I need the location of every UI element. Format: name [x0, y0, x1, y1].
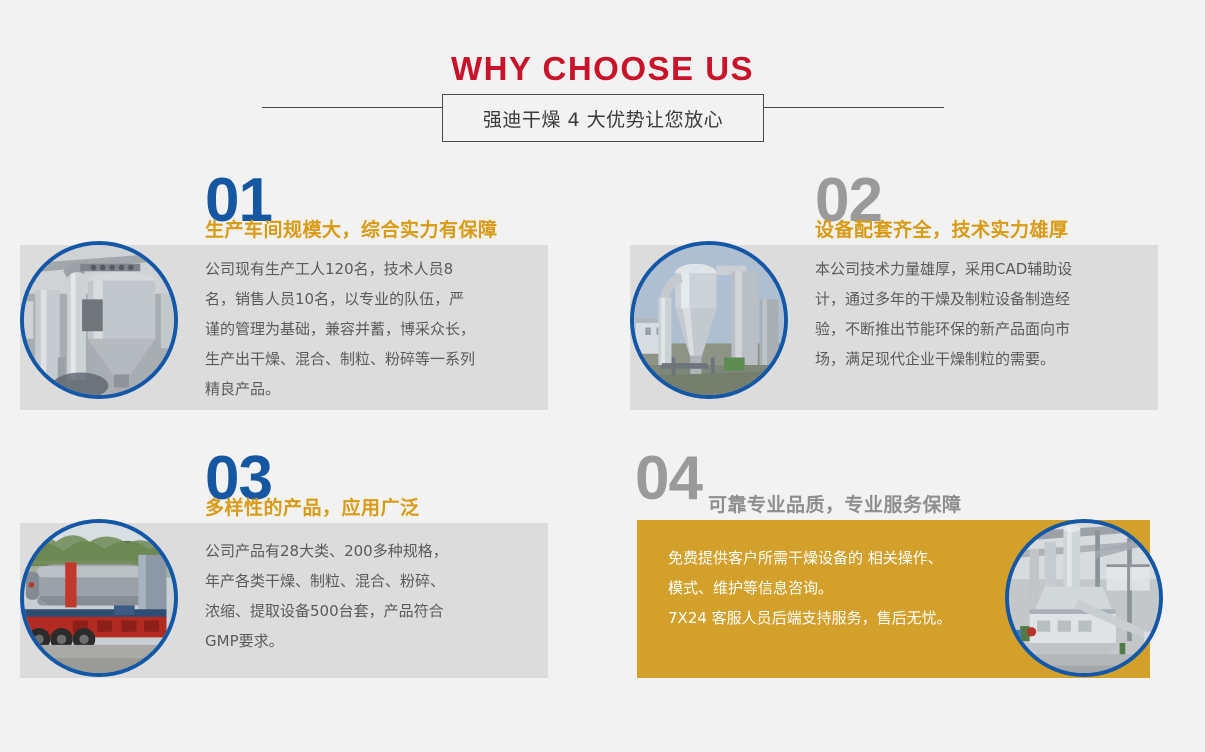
header-rule-group: 强迪干燥 4 大优势让您放心	[0, 94, 1205, 146]
feature-number-04: 04	[635, 448, 702, 510]
fluid-bed-dryer-workshop-photo	[1005, 519, 1163, 677]
page-header: WHY CHOOSE US 强迪干燥 4 大优势让您放心	[0, 0, 1205, 160]
feature-body-line: 生产出干燥、混合、制粒、粉碎等一系列	[205, 344, 535, 374]
header-subtitle-box: 强迪干燥 4 大优势让您放心	[442, 94, 764, 142]
feature-body-line: 公司产品有28大类、200多种规格，	[205, 536, 535, 566]
feature-card-04: 04 可靠专业品质，专业服务保障 免费提供客户所需干燥设备的 相关操作、 模式、…	[630, 448, 1190, 698]
header-rule-left	[262, 107, 442, 108]
photo-graphic	[634, 245, 784, 395]
feature-card-03: 03 多样性的产品，应用广泛 公司产品有28大类、200多种规格， 年产各类干燥…	[20, 448, 580, 698]
feature-heading-02: 设备配套齐全，技术实力雄厚	[815, 215, 1069, 242]
feature-heading-01: 生产车间规模大，综合实力有保障	[205, 215, 498, 242]
feature-body-line: 精良产品。	[205, 374, 535, 404]
page-subtitle: 强迪干燥 4 大优势让您放心	[483, 105, 723, 132]
feature-body-line: 名，销售人员10名，以专业的队伍，严	[205, 284, 535, 314]
feature-heading-04: 可靠专业品质，专业服务保障	[708, 490, 962, 517]
rotary-dryer-on-truck-photo	[20, 519, 178, 677]
feature-body-line: 7X24 客服人员后端支持服务，售后无忧。	[668, 603, 1018, 633]
feature-body-line: 浓缩、提取设备500台套，产品符合	[205, 596, 535, 626]
feature-body-line: 公司现有生产工人120名，技术人员8	[205, 254, 535, 284]
feature-body-line: 免费提供客户所需干燥设备的 相关操作、	[668, 543, 1018, 573]
feature-body-04: 免费提供客户所需干燥设备的 相关操作、 模式、维护等信息咨询。 7X24 客服人…	[668, 543, 1018, 633]
photo-graphic	[24, 523, 174, 673]
outdoor-spray-dryer-photo	[630, 241, 788, 399]
feature-heading-03: 多样性的产品，应用广泛	[205, 493, 420, 520]
feature-body-01: 公司现有生产工人120名，技术人员8 名，销售人员10名，以专业的队伍，严 谨的…	[205, 254, 535, 404]
header-rule-right	[764, 107, 944, 108]
feature-card-02: 02 设备配套齐全，技术实力雄厚 本公司技术力量雄厚，采用CAD辅助设 计，通过…	[630, 170, 1190, 420]
photo-graphic	[1009, 523, 1159, 673]
feature-body-line: 计，通过多年的干燥及制粒设备制造经	[815, 284, 1155, 314]
page-title: WHY CHOOSE US	[0, 50, 1205, 88]
feature-body-02: 本公司技术力量雄厚，采用CAD辅助设 计，通过多年的干燥及制粒设备制造经 验，不…	[815, 254, 1155, 374]
feature-body-line: GMP要求。	[205, 626, 535, 656]
spray-dryer-workshop-photo	[20, 241, 178, 399]
photo-graphic	[24, 245, 174, 395]
feature-body-line: 谨的管理为基础，兼容并蓄，博采众长，	[205, 314, 535, 344]
feature-card-01: 01 生产车间规模大，综合实力有保障 公司现有生产工人120名，技术人员8 名，…	[20, 170, 580, 420]
feature-body-line: 验，不断推出节能环保的新产品面向市	[815, 314, 1155, 344]
feature-body-03: 公司产品有28大类、200多种规格， 年产各类干燥、制粒、混合、粉碎、 浓缩、提…	[205, 536, 535, 656]
feature-body-line: 年产各类干燥、制粒、混合、粉碎、	[205, 566, 535, 596]
feature-body-line: 本公司技术力量雄厚，采用CAD辅助设	[815, 254, 1155, 284]
feature-body-line: 场，满足现代企业干燥制粒的需要。	[815, 344, 1155, 374]
feature-body-line: 模式、维护等信息咨询。	[668, 573, 1018, 603]
